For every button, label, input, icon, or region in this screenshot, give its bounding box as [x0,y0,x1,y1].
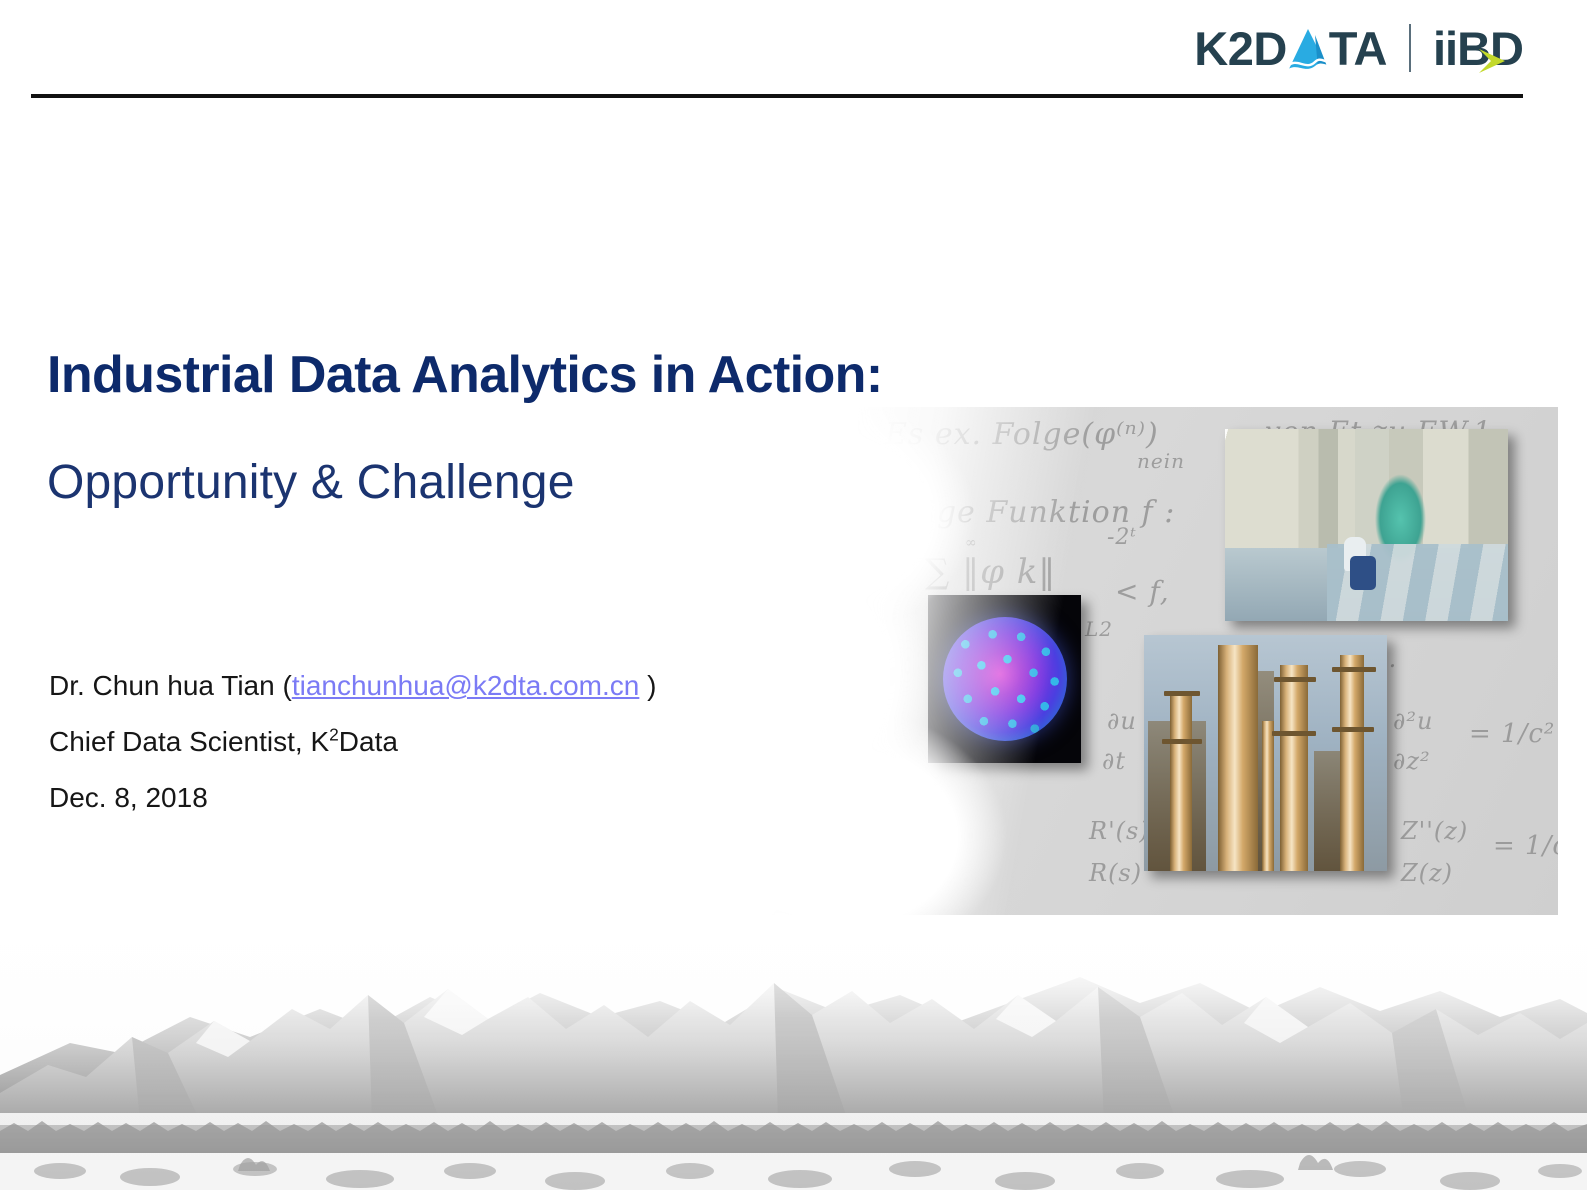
refinery-column [1218,645,1258,871]
k2data-logo-text-before: K2D [1194,25,1287,72]
refinery-column [1280,665,1308,871]
slide-title: Industrial Data Analytics in Action: [47,345,883,405]
author-role-superscript: 2 [329,725,339,745]
refinery-platform [1332,667,1376,672]
oil-refinery-photo: Petrochemical refinery distillation colu… [1144,635,1387,871]
refinery-platform [1162,739,1202,744]
slide-subtitle: Opportunity & Challenge [47,455,575,510]
k2data-logo-text-after: TA [1329,25,1387,72]
whiteboard-math-collage: Es ex. Folge(φ⁽ⁿ⁾) nein von Et zu EW.1 s… [717,407,1558,915]
presentation-date: Dec. 8, 2018 [49,770,656,826]
iibd-logo: ii B D [1433,25,1523,72]
refinery-platform [1274,677,1316,682]
author-name-prefix: Dr. Chun hua Tian ( [49,670,292,701]
refinery-column [1340,655,1364,871]
author-role-suffix: Data [339,726,398,757]
author-email-link[interactable]: tianchunhua@k2dta.com.cn [292,670,640,701]
k2data-mountain-wave-icon [1285,25,1331,72]
header-logo-group: K2D TA ii B D [1194,18,1523,78]
refinery-platform [1332,727,1374,732]
refinery-structure [1314,751,1342,871]
header-divider-rule [31,94,1523,98]
refinery-platform [1272,731,1316,736]
refinery-platform [1164,691,1200,696]
logo-divider [1409,24,1411,72]
author-role-prefix: Chief Data Scientist, K [49,726,329,757]
author-name-suffix: ) [639,670,656,701]
collage-white-fade-overlay [717,407,1097,915]
mountain-range-footer-image [0,925,1587,1190]
semiconductor-cleanroom-photo: Semiconductor cleanroom fab aisle [1225,429,1508,621]
author-role-line: Chief Data Scientist, K2Data [49,714,656,770]
refinery-column [1170,695,1192,871]
refinery-pipe [1262,721,1274,871]
author-name-line: Dr. Chun hua Tian (tianchunhua@k2dta.com… [49,658,656,714]
iibd-chevron-icon [1477,35,1507,63]
author-info-block: Dr. Chun hua Tian (tianchunhua@k2dta.com… [49,658,656,826]
iibd-logo-text-before: ii [1433,25,1457,72]
presentation-slide: K2D TA ii B D [0,0,1587,1190]
cleanroom-chair [1350,556,1376,590]
k2data-logo: K2D TA [1194,25,1387,72]
